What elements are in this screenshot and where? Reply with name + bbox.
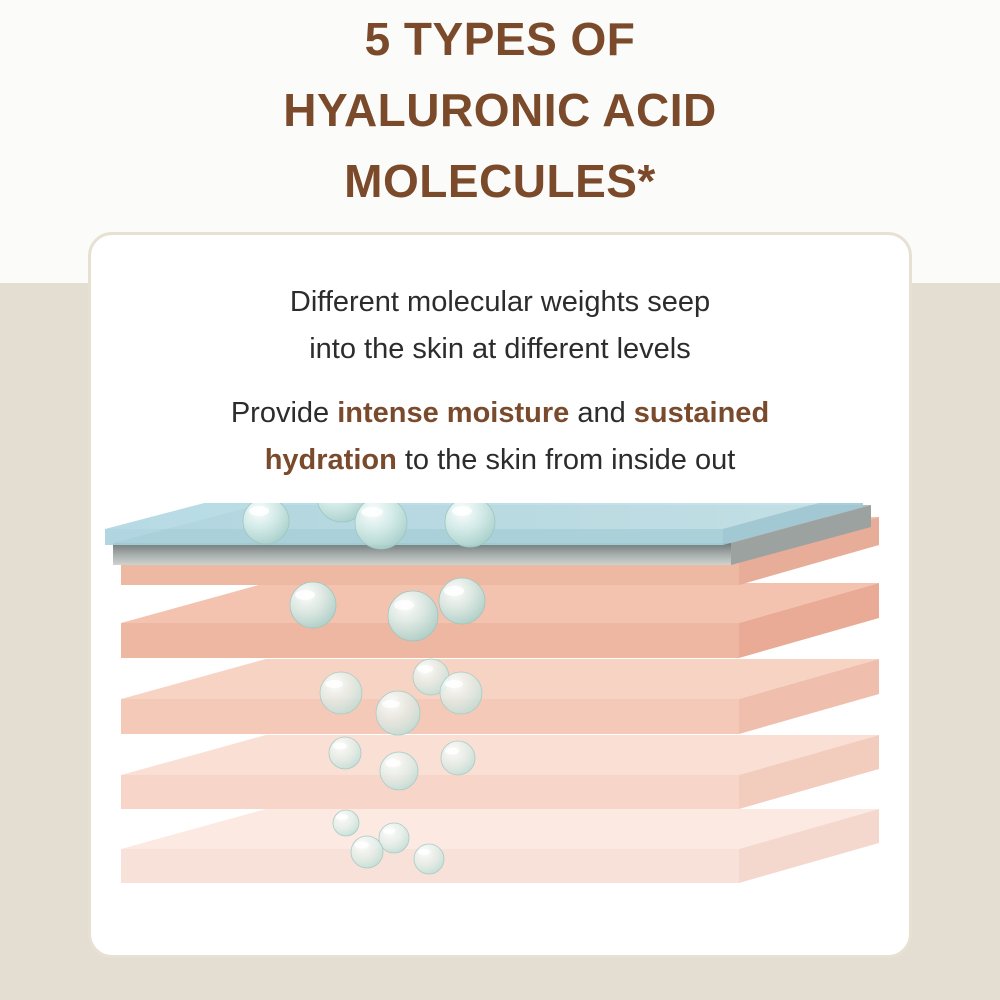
skin-layers-svg bbox=[91, 503, 909, 923]
skin-layers-illustration bbox=[91, 503, 909, 923]
page-title: 5 TYPES OF HYALURONIC ACID MOLECULES* bbox=[0, 0, 1000, 217]
skin-layer-2 bbox=[121, 583, 879, 658]
paragraph-two: Provide intense moisture and sustainedhy… bbox=[91, 390, 909, 484]
paragraph-one-line-2: into the skin at different levels bbox=[309, 333, 691, 365]
title-line-1: 5 TYPES OF bbox=[0, 4, 1000, 75]
content-card: Different molecular weights seep into th… bbox=[88, 232, 912, 958]
title-line-2: HYALURONIC ACID bbox=[0, 75, 1000, 146]
paragraph-two-emphasis-1: intense moisture bbox=[337, 397, 569, 429]
paragraph-one: Different molecular weights seep into th… bbox=[91, 279, 909, 373]
infographic-page: 5 TYPES OF HYALURONIC ACID MOLECULES* Di… bbox=[0, 0, 1000, 1000]
paragraph-two-seg-2: and bbox=[569, 397, 634, 429]
paragraph-two-emphasis-3: hydration bbox=[265, 444, 397, 476]
title-line-3: MOLECULES* bbox=[0, 146, 1000, 217]
paragraph-one-line-1: Different molecular weights seep bbox=[290, 286, 710, 318]
paragraph-two-seg-1: Provide bbox=[231, 397, 337, 429]
description-block: Different molecular weights seep into th… bbox=[91, 279, 909, 484]
skin-layer-3 bbox=[121, 659, 879, 734]
paragraph-two-seg-3: to the skin from inside out bbox=[397, 444, 736, 476]
skin-layer-5 bbox=[121, 809, 879, 883]
skin-layer-4 bbox=[121, 735, 879, 809]
paragraph-two-emphasis-2: sustained bbox=[634, 397, 769, 429]
